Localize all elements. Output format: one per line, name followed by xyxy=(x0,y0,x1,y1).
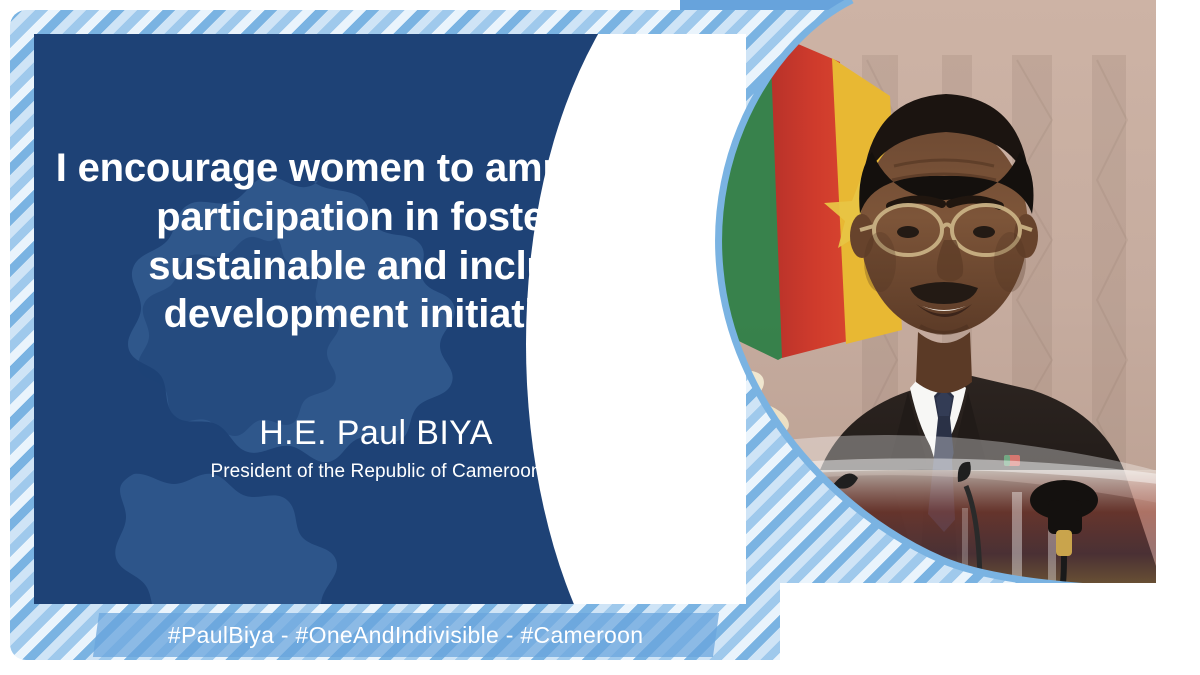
author-name: H.E. Paul BIYA xyxy=(34,415,718,452)
photo-image xyxy=(712,0,1164,590)
photo-clip-region xyxy=(712,0,1164,590)
quote-card: I encourage women to amplify their parti… xyxy=(0,0,1200,675)
hashtag-band: #PaulBiya - #OneAndIndivisible - #Camero… xyxy=(93,613,719,657)
attribution-block: H.E. Paul BIYA President of the Republic… xyxy=(34,415,746,482)
quote-panel: I encourage women to amplify their parti… xyxy=(34,34,746,604)
right-white-margin xyxy=(1156,0,1200,675)
speaker-photo xyxy=(712,0,1164,590)
quote-text: I encourage women to amplify their parti… xyxy=(34,144,746,339)
author-role: President of the Republic of Cameroon xyxy=(34,461,718,483)
hashtag-text: #PaulBiya - #OneAndIndivisible - #Camero… xyxy=(168,622,643,649)
bottom-right-white-mask xyxy=(780,583,1200,675)
